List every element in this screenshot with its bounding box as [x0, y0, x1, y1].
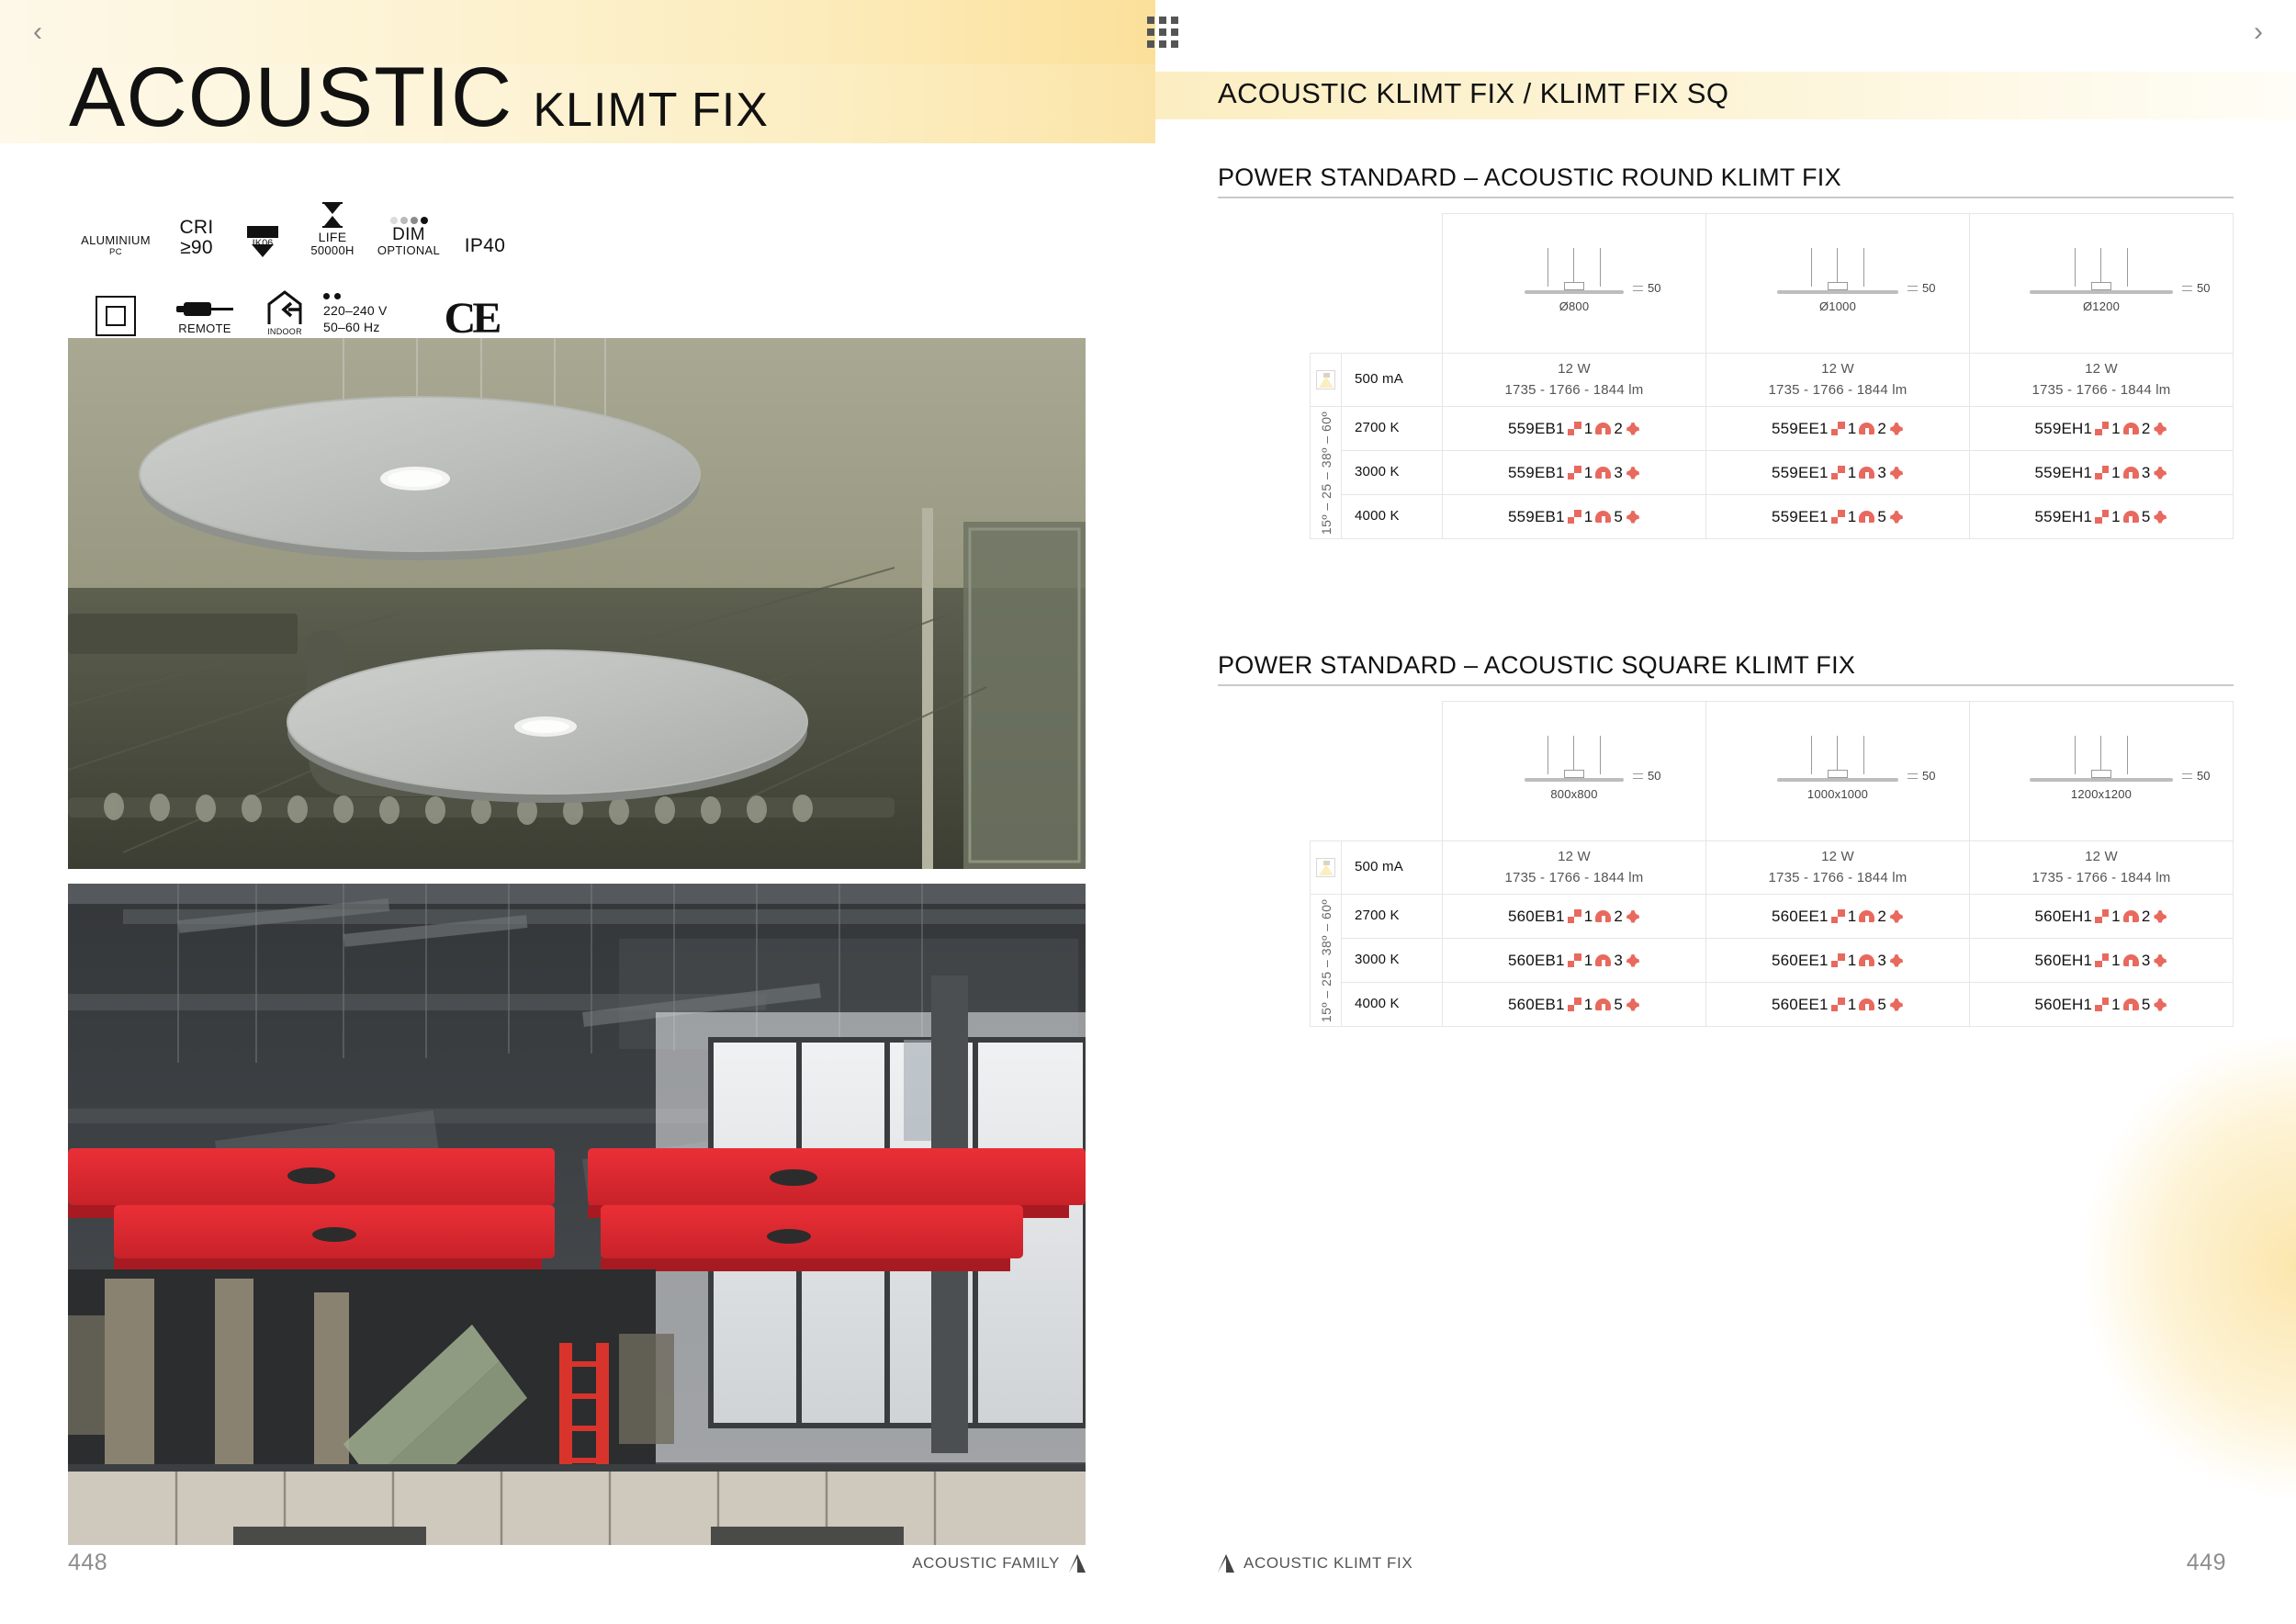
beam-angle-range-cell: 15º – 25 – 38º – 60º: [1311, 407, 1342, 539]
code-prefix: 559EH1: [2035, 464, 2093, 482]
remote-driver-icon: [176, 299, 233, 321]
size-label: 1000x1000: [1807, 787, 1868, 801]
product-elevation-drawing: 501000x1000: [1746, 732, 1930, 811]
code-beam: 3: [1614, 464, 1623, 482]
product-elevation-drawing: 501200x1200: [2009, 732, 2193, 811]
dimm-options-icon: [1889, 953, 1904, 968]
product-code: 559EH112: [1970, 420, 2233, 438]
page-corner-glow: [2085, 1036, 2296, 1495]
size-label: Ø800: [1559, 299, 1590, 313]
code-prefix: 559EE1: [1772, 420, 1829, 438]
panel-profile: [1525, 290, 1624, 294]
product-code-cell[interactable]: 559EH112: [1970, 407, 2234, 451]
product-code: 559EE115: [1706, 508, 1969, 526]
drawing-row: 50Ø80050Ø100050Ø1200: [1311, 214, 2234, 354]
code-finish: 1: [2111, 908, 2121, 926]
product-code: 560EE115: [1706, 996, 1969, 1014]
code-beam: 2: [2142, 908, 2151, 926]
product-code-cell[interactable]: 560EE113: [1706, 939, 1970, 983]
beam-angle-icon: [1595, 998, 1611, 1010]
driver-box-icon: [1828, 770, 1848, 778]
finish-icon: [1568, 422, 1581, 435]
spec-indoor: INDOOR: [246, 289, 323, 336]
code-finish: 1: [1584, 908, 1593, 926]
right-page: ACOUSTIC KLIMT FIX / KLIMT FIX SQ POWER …: [1155, 0, 2296, 1624]
downlight-icon-cell: [1311, 841, 1342, 895]
code-prefix: 560EH1: [2035, 996, 2093, 1014]
dimension-cell: 50Ø800: [1443, 214, 1706, 354]
round-spec-table: 50Ø80050Ø100050Ø1200500 mA12 W1735 - 176…: [1310, 213, 2234, 539]
size-label: Ø1200: [2083, 299, 2120, 313]
spec-voltage: 220–240 V 50–60 Hz: [323, 293, 433, 337]
power-value: 12 W: [1443, 359, 1705, 380]
power-value: 12 W: [1443, 847, 1705, 868]
product-code-cell[interactable]: 560EH113: [1970, 939, 2234, 983]
product-code: 559EE113: [1706, 464, 1969, 482]
code-beam: 3: [1614, 952, 1623, 970]
right-footer-product: ACOUSTIC KLIMT FIX: [1218, 1554, 1412, 1573]
product-code-cell[interactable]: 560EH115: [1970, 983, 2234, 1027]
beam-angle-icon: [1859, 998, 1874, 1010]
spec-remote-label: REMOTE: [163, 322, 246, 336]
power-value: 12 W: [1706, 847, 1969, 868]
product-code-cell[interactable]: 559EH115: [1970, 495, 2234, 539]
spec-material-line1: ALUMINIUM: [81, 233, 151, 247]
spec-impact: IK06: [230, 226, 296, 258]
power-row: 500 mA12 W1735 - 1766 - 1844 lm12 W1735 …: [1311, 354, 2234, 407]
code-finish: 1: [2111, 996, 2121, 1014]
dimm-options-icon: [1889, 510, 1904, 524]
beam-angle-range-label: 15º – 25 – 38º – 60º: [1319, 898, 1334, 1021]
partitions: [68, 1464, 1086, 1545]
product-code: 559EB115: [1443, 508, 1705, 526]
driver-box-icon: [2091, 770, 2111, 778]
code-beam: 2: [1614, 420, 1623, 438]
table-row: 15º – 25 – 38º – 60º2700 K559EB112559EE1…: [1311, 407, 2234, 451]
size-label: Ø1000: [1819, 299, 1856, 313]
dimension-cell: 501000x1000: [1706, 702, 1970, 841]
finish-icon: [2095, 510, 2109, 524]
driver-box-icon: [1564, 770, 1584, 778]
impact-resistance-icon: IK06: [244, 226, 281, 257]
product-code-cell[interactable]: 560EE112: [1706, 895, 1970, 939]
table-row: 4000 K559EB115559EE115559EH115: [1311, 495, 2234, 539]
dimension-cell: 50Ø1200: [1970, 214, 2234, 354]
downlight-icon: [1316, 858, 1335, 877]
code-prefix: 559EE1: [1772, 508, 1829, 526]
product-code: 560EB112: [1443, 908, 1705, 926]
catalog-spread: ‹ › ACOUSTIC KLIMT FIX ALUMINIUM PC CRI …: [0, 0, 2296, 1624]
code-finish: 1: [2111, 952, 2121, 970]
dim-level-dots-icon: [369, 217, 448, 224]
finish-icon: [2095, 953, 2109, 967]
finish-icon: [1831, 422, 1845, 435]
beam-angle-icon: [1595, 511, 1611, 523]
dimension-cell: 501200x1200: [1970, 702, 2234, 841]
beam-angle-icon: [1859, 423, 1874, 434]
dimm-options-icon: [2153, 510, 2167, 524]
downlight-icon: [1316, 370, 1335, 389]
height-label: 50: [1908, 769, 1935, 783]
footer-product-label: ACOUSTIC KLIMT FIX: [1244, 1554, 1412, 1573]
next-page-button[interactable]: ›: [2243, 17, 2274, 48]
spec-dimming: DIM OPTIONAL: [369, 217, 448, 258]
finish-icon: [2095, 422, 2109, 435]
beam-angle-icon: [2123, 998, 2139, 1010]
code-beam: 5: [1877, 996, 1886, 1014]
code-finish: 1: [1584, 996, 1593, 1014]
spec-ip-label: IP40: [448, 236, 522, 256]
left-page: ACOUSTIC KLIMT FIX ALUMINIUM PC CRI ≥90 …: [0, 0, 1155, 1624]
code-finish: 1: [1584, 952, 1593, 970]
code-finish: 1: [1848, 952, 1857, 970]
ac-dots-icon: [323, 293, 433, 299]
lumen-value: 1735 - 1766 - 1844 lm: [1970, 868, 2233, 889]
section-title-square: POWER STANDARD – ACOUSTIC SQUARE KLIMT F…: [1218, 651, 1855, 680]
code-finish: 1: [1584, 420, 1593, 438]
product-code-cell[interactable]: 559EB112: [1443, 407, 1706, 451]
cct-label: 4000 K: [1355, 506, 1442, 527]
product-code: 560EE113: [1706, 952, 1969, 970]
left-footer-family: ACOUSTIC FAMILY: [912, 1554, 1086, 1573]
code-finish: 1: [1848, 464, 1857, 482]
left-page-number: 448: [68, 1550, 107, 1576]
product-code: 560EH113: [1970, 952, 2233, 970]
spec-material: ALUMINIUM PC: [68, 234, 163, 258]
code-beam: 2: [1877, 908, 1886, 926]
code-finish: 1: [1584, 508, 1593, 526]
beam-angle-icon: [1595, 910, 1611, 922]
product-code-cell[interactable]: 560EB115: [1443, 983, 1706, 1027]
spec-cri-label: CRI: [163, 218, 230, 238]
spec-cri: CRI ≥90: [163, 218, 230, 258]
code-finish: 1: [2111, 508, 2121, 526]
product-code-cell[interactable]: 560EH112: [1970, 895, 2234, 939]
driver-box-icon: [1564, 282, 1584, 290]
panel-profile: [2030, 290, 2173, 294]
dimm-options-icon: [1889, 466, 1904, 480]
spec-voltage-range: 220–240 V: [323, 302, 433, 320]
product-code: 559EB113: [1443, 464, 1705, 482]
code-prefix: 560EE1: [1772, 996, 1829, 1014]
brand-triangle-icon: [1069, 1554, 1086, 1573]
cct-label: 4000 K: [1355, 994, 1442, 1015]
cct-label: 2700 K: [1355, 906, 1442, 927]
code-beam: 2: [1877, 420, 1886, 438]
code-beam: 3: [2142, 952, 2151, 970]
cct-label: 3000 K: [1355, 950, 1442, 971]
class-two-icon: [96, 296, 136, 336]
spec-indoor-label: INDOOR: [246, 327, 323, 336]
dimension-cell: 50800x800: [1443, 702, 1706, 841]
product-code: 560EH115: [1970, 996, 2233, 1014]
suspension-cables-icon: [1548, 248, 1601, 287]
panel-profile: [1777, 778, 1898, 782]
lumen-value: 1735 - 1766 - 1844 lm: [1706, 380, 1969, 401]
finish-icon: [1831, 953, 1845, 967]
code-beam: 5: [2142, 996, 2151, 1014]
toolbar-accent-strip: [0, 0, 1155, 64]
power-row: 500 mA12 W1735 - 1766 - 1844 lm12 W1735 …: [1311, 841, 2234, 895]
product-code: 560EB113: [1443, 952, 1705, 970]
panel-profile: [2030, 778, 2173, 782]
height-label: 50: [1633, 281, 1660, 295]
code-finish: 1: [2111, 420, 2121, 438]
beam-angle-icon: [1859, 954, 1874, 966]
right-page-number: 449: [2187, 1550, 2226, 1576]
dimm-options-icon: [2153, 998, 2167, 1012]
code-prefix: 559EB1: [1508, 464, 1565, 482]
beam-angle-icon: [2123, 910, 2139, 922]
beam-angle-icon: [2123, 954, 2139, 966]
suspension-cables-icon: [1811, 736, 1864, 774]
product-code-cell[interactable]: 559EB113: [1443, 451, 1706, 495]
product-code: 559EE112: [1706, 420, 1969, 438]
finish-icon: [2095, 909, 2109, 923]
finish-icon: [1831, 998, 1845, 1011]
code-finish: 1: [1848, 508, 1857, 526]
product-code-cell[interactable]: 560EB113: [1443, 939, 1706, 983]
spec-cri-value: ≥90: [163, 238, 230, 258]
product-code-cell[interactable]: 559EB115: [1443, 495, 1706, 539]
finish-icon: [1831, 510, 1845, 524]
code-beam: 2: [1614, 908, 1623, 926]
spec-dim-label: DIM: [369, 226, 448, 244]
output-cell: 12 W1735 - 1766 - 1844 lm: [1970, 354, 2234, 407]
finish-icon: [1568, 510, 1581, 524]
beam-angle-icon: [1595, 467, 1611, 479]
product-code: 560EE112: [1706, 908, 1969, 926]
code-beam: 2: [2142, 420, 2151, 438]
downlight-icon-cell: [1311, 354, 1342, 407]
panel-profile: [1525, 778, 1624, 782]
code-beam: 5: [1614, 508, 1623, 526]
product-photo-square: [68, 884, 1086, 1545]
section-rule-round: [1218, 197, 2234, 198]
beam-angle-icon: [1859, 511, 1874, 523]
dimm-options-icon: [1889, 909, 1904, 924]
lumen-value: 1735 - 1766 - 1844 lm: [1706, 868, 1969, 889]
suspension-cables-icon: [1811, 248, 1864, 287]
finish-icon: [1568, 998, 1581, 1011]
height-label: 50: [1633, 769, 1660, 783]
dimm-options-icon: [2153, 466, 2167, 480]
beam-angle-icon: [2123, 511, 2139, 523]
grid-view-icon[interactable]: [1147, 17, 1178, 48]
square-spec-table: 50800x800501000x1000501200x1200500 mA12 …: [1310, 701, 2234, 1027]
beam-angle-icon: [2123, 423, 2139, 434]
product-elevation-drawing: 50Ø1000: [1746, 244, 1930, 323]
driver-box-icon: [1828, 282, 1848, 290]
product-code: 559EB112: [1443, 420, 1705, 438]
dimm-options-icon: [1889, 422, 1904, 436]
code-prefix: 560EH1: [2035, 952, 2093, 970]
code-prefix: 559EH1: [2035, 420, 2093, 438]
finish-icon: [1831, 909, 1845, 923]
code-prefix: 560EH1: [2035, 908, 2093, 926]
code-prefix: 559EB1: [1508, 420, 1565, 438]
height-label: 50: [1908, 281, 1935, 295]
beam-angle-icon: [2123, 467, 2139, 479]
code-beam: 3: [1877, 952, 1886, 970]
code-beam: 3: [2142, 464, 2151, 482]
dimm-options-icon: [1889, 998, 1904, 1012]
spec-row-1: ALUMINIUM PC CRI ≥90 IK06: [68, 200, 582, 258]
spec-frequency: 50–60 Hz: [323, 319, 433, 336]
beam-angle-range-cell: 15º – 25 – 38º – 60º: [1311, 895, 1342, 1027]
code-prefix: 559EH1: [2035, 508, 2093, 526]
dimm-options-icon: [1626, 422, 1640, 436]
code-beam: 5: [1877, 508, 1886, 526]
beam-angle-icon: [1595, 954, 1611, 966]
dimm-options-icon: [2153, 909, 2167, 924]
product-photo-round: [68, 338, 1086, 869]
viewer-toolbar: ‹ ›: [0, 0, 2296, 64]
table-row: 4000 K560EB115560EE115560EH115: [1311, 983, 2234, 1027]
driver-box-icon: [2091, 282, 2111, 290]
code-finish: 1: [1848, 996, 1857, 1014]
suspension-cables-icon: [2075, 248, 2128, 287]
section-rule-square: [1218, 684, 2234, 686]
product-code-cell[interactable]: 559EE113: [1706, 451, 1970, 495]
product-elevation-drawing: 50800x800: [1482, 732, 1666, 811]
spec-lifetime-value: 50000H: [296, 244, 369, 258]
cct-label: 3000 K: [1355, 462, 1442, 483]
right-page-title: ACOUSTIC KLIMT FIX / KLIMT FIX SQ: [1218, 77, 1728, 110]
code-finish: 1: [1584, 464, 1593, 482]
drawing-row: 50800x800501000x1000501200x1200: [1311, 702, 2234, 841]
product-code: 559EH113: [1970, 464, 2233, 482]
section-title-round: POWER STANDARD – ACOUSTIC ROUND KLIMT FI…: [1218, 164, 1841, 192]
code-beam: 5: [2142, 508, 2151, 526]
dimm-options-icon: [1626, 909, 1640, 924]
output-cell: 12 W1735 - 1766 - 1844 lm: [1443, 354, 1706, 407]
table-row: 3000 K559EB113559EE113559EH113: [1311, 451, 2234, 495]
ce-mark-icon: CE: [433, 301, 507, 336]
output-cell: 12 W1735 - 1766 - 1844 lm: [1443, 841, 1706, 895]
dimm-options-icon: [2153, 422, 2167, 436]
power-value: 12 W: [1706, 359, 1969, 380]
product-code-cell[interactable]: 559EE115: [1706, 495, 1970, 539]
size-label: 800x800: [1550, 787, 1597, 801]
title-main: ACOUSTIC: [69, 55, 512, 140]
dimm-options-icon: [1626, 953, 1640, 968]
finish-icon: [2095, 466, 2109, 479]
height-label: 50: [2182, 281, 2210, 295]
output-cell: 12 W1735 - 1766 - 1844 lm: [1706, 354, 1970, 407]
lumen-value: 1735 - 1766 - 1844 lm: [1443, 380, 1705, 401]
code-prefix: 560EE1: [1772, 952, 1829, 970]
code-beam: 3: [1877, 464, 1886, 482]
spec-remote: REMOTE: [163, 299, 246, 336]
product-code-cell[interactable]: 559EE112: [1706, 407, 1970, 451]
table-row: 3000 K560EB113560EE113560EH113: [1311, 939, 2234, 983]
brand-triangle-icon: [1218, 1554, 1234, 1573]
page-title: ACOUSTIC KLIMT FIX: [69, 55, 769, 140]
power-value: 12 W: [1970, 359, 2233, 380]
dimm-options-icon: [1626, 998, 1640, 1012]
dimm-options-icon: [1626, 510, 1640, 524]
spec-lifetime-label: LIFE: [296, 230, 369, 244]
panel-profile: [1777, 290, 1898, 294]
dimm-options-icon: [1626, 466, 1640, 480]
spec-ce: CE: [433, 301, 507, 336]
spec-row-2: REMOTE INDOOR 220–240 V 50–60 Hz: [68, 289, 582, 336]
spec-ip: IP40: [448, 236, 522, 258]
size-label: 1200x1200: [2071, 787, 2132, 801]
finish-icon: [1568, 953, 1581, 967]
dimension-cell: 50Ø1000: [1706, 214, 1970, 354]
product-code-cell[interactable]: 560EB112: [1443, 895, 1706, 939]
table-row: 15º – 25 – 38º – 60º2700 K560EB112560EE1…: [1311, 895, 2234, 939]
previous-page-button[interactable]: ‹: [22, 17, 53, 48]
code-finish: 1: [2111, 464, 2121, 482]
code-prefix: 559EE1: [1772, 464, 1829, 482]
product-code-cell[interactable]: 559EH113: [1970, 451, 2234, 495]
product-code: 560EH112: [1970, 908, 2233, 926]
dimm-options-icon: [2153, 953, 2167, 968]
disc-lower: [287, 650, 807, 803]
product-code: 559EH115: [1970, 508, 2233, 526]
finish-icon: [1568, 466, 1581, 479]
disc-upper: [140, 397, 700, 560]
lumen-value: 1735 - 1766 - 1844 lm: [1970, 380, 2233, 401]
suspension-cables-icon: [1548, 736, 1601, 774]
output-cell: 12 W1735 - 1766 - 1844 lm: [1970, 841, 2234, 895]
power-value: 12 W: [1970, 847, 2233, 868]
code-finish: 1: [1848, 908, 1857, 926]
product-code: 560EB115: [1443, 996, 1705, 1014]
finish-icon: [1831, 466, 1845, 479]
spec-class2: [68, 296, 163, 336]
product-elevation-drawing: 50Ø1200: [2009, 244, 2193, 323]
height-label: 50: [2182, 769, 2210, 783]
beam-angle-icon: [1859, 467, 1874, 479]
spec-material-line2: PC: [68, 248, 163, 258]
title-sub: KLIMT FIX: [533, 86, 769, 134]
suspension-cables-icon: [2075, 736, 2128, 774]
product-code-cell[interactable]: 560EE115: [1706, 983, 1970, 1027]
beam-angle-range-label: 15º – 25 – 38º – 60º: [1319, 411, 1334, 534]
spec-dim-note: OPTIONAL: [369, 244, 448, 258]
spec-lifetime: LIFE 50000H: [296, 200, 369, 258]
code-prefix: 559EB1: [1508, 508, 1565, 526]
code-prefix: 560EB1: [1508, 996, 1565, 1014]
footer-family-label: ACOUSTIC FAMILY: [912, 1554, 1060, 1573]
output-cell: 12 W1735 - 1766 - 1844 lm: [1706, 841, 1970, 895]
indoor-house-icon: [264, 289, 306, 326]
product-elevation-drawing: 50Ø800: [1482, 244, 1666, 323]
hourglass-icon: [321, 200, 344, 228]
beam-angle-icon: [1595, 423, 1611, 434]
code-prefix: 560EB1: [1508, 952, 1565, 970]
lumen-value: 1735 - 1766 - 1844 lm: [1443, 868, 1705, 889]
current-label: 500 mA: [1355, 369, 1442, 390]
current-label: 500 mA: [1355, 857, 1442, 878]
code-finish: 1: [1848, 420, 1857, 438]
code-prefix: 560EB1: [1508, 908, 1565, 926]
code-prefix: 560EE1: [1772, 908, 1829, 926]
finish-icon: [1568, 909, 1581, 923]
beam-angle-icon: [1859, 910, 1874, 922]
code-beam: 5: [1614, 996, 1623, 1014]
cct-label: 2700 K: [1355, 418, 1442, 439]
finish-icon: [2095, 998, 2109, 1011]
